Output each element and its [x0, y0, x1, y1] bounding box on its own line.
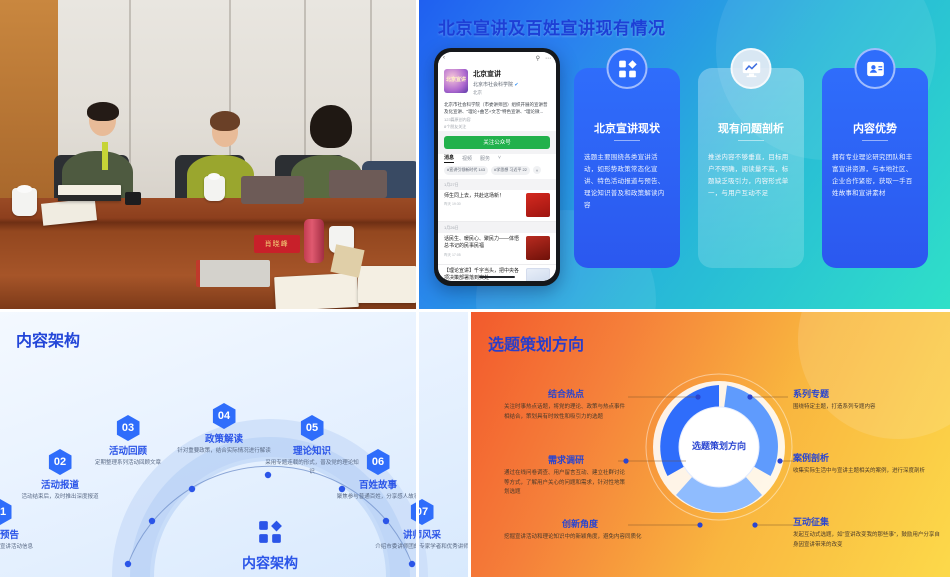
item-desc: 发起互动式选题，如"宣讲改变我的那些事"，鼓励用户分享自身因宣讲带来的改变 [793, 531, 941, 550]
list-item[interactable]: 【理论宣讲】千字当头，把中央各项决策部署落到实处 1月25日 [438, 265, 556, 281]
name-plate: 肖晓峰 [254, 235, 300, 254]
account-meta-friends: 8个朋友关注 [438, 123, 556, 130]
post-title: 【理论宣讲】千字当头，把中央各项决策部署落到实处 [444, 268, 522, 281]
smartphone [125, 192, 142, 206]
account-org: 北京市社会科学院 [473, 82, 513, 88]
arc-slide-title: 内容架构 [16, 327, 80, 351]
post-title: 话民生、暖民心、聚民力——体悟总书记的民事民福 [444, 236, 522, 251]
grid-blocks-icon [257, 519, 283, 545]
notebook [196, 260, 271, 288]
post-date-1: 1月27日 [438, 179, 556, 190]
chip-more-icon[interactable]: ˅ [533, 166, 541, 174]
person-right-hair [310, 105, 352, 148]
card-divider [738, 140, 764, 141]
topic-chips: #宣讲引领新时代 143 #学思想 习近平 22 ˅ [438, 166, 556, 179]
account-meta-original: 123篇原创内容 [438, 116, 556, 123]
card-current-status[interactable]: 北京宣讲现状 选题主要围绕各类宣讲活动，如形势政策常态化宣讲、特色活动报道与预告… [574, 68, 680, 268]
tea-cup [204, 176, 225, 201]
topic-planning-slide: 选题策划方向 选题策划方向 [468, 309, 950, 577]
lanyard [102, 142, 108, 170]
node-desc: 针对重要政策，结合实际情况进行解读 [176, 447, 272, 456]
card-body: 推送内容不够垂直，目标用户不明确，阅读量不高，标题缺乏吸引力，内容形式单一，与用… [708, 152, 794, 200]
node-number: 07 [411, 499, 434, 525]
topic-item-case[interactable]: 案例剖析 收集实际生活中与宣讲主题相关的案例，进行深度剖析 [793, 451, 941, 477]
node-label: 讲师风采 [374, 527, 468, 541]
cup-lid [208, 173, 220, 180]
node-label: 百姓故事 [330, 477, 426, 491]
laptop [329, 170, 387, 198]
node-number: 05 [301, 415, 324, 441]
grid-divider-horizontal [0, 309, 950, 312]
laptop [241, 176, 303, 204]
meeting-photo-slide: 肖晓峰 [0, 0, 416, 309]
arc-dot [149, 518, 155, 524]
search-icon[interactable]: ⚲ [536, 55, 540, 62]
arc-node-07[interactable]: 07 讲师风采 介绍市委讲师团的专家学者和优秀讲师 [374, 499, 468, 552]
card-content-advantage[interactable]: 内容优势 拥有专业理论研究团队和丰富宣讲资源，与本地社区、企业合作紧密，获取一手… [822, 68, 928, 268]
follow-button[interactable]: 关注公众号 [444, 136, 550, 149]
list-item[interactable]: 师生同上去，共赴这场新！ 昨天 19:30 [438, 190, 556, 222]
post-thumbnail [526, 236, 550, 260]
phone-screen: ‹ ⚲ ⋯ 北京宣讲 北京宣讲 北京市社会科学院 ✔ 北京 [438, 52, 556, 281]
grid-divider-vertical-bottom [468, 309, 471, 577]
person-left-hair [87, 102, 118, 121]
card-problem-analysis[interactable]: 现有问题剖析 推送内容不够垂直，目标用户不明确，阅读量不高，标题缺乏吸引力，内容… [698, 68, 804, 268]
topic-item-interactive[interactable]: 互动征集 发起互动式选题，如"宣讲改变我的那些事"，鼓励用户分享自身因宣讲带来的… [793, 515, 941, 550]
arc-dot [189, 486, 195, 492]
topic-item-series[interactable]: 系列专题 围绕特定主题，打造系列专题内容 [793, 387, 933, 413]
item-desc: 收集实际生活中与宣讲主题相关的案例，进行深度剖析 [793, 467, 941, 477]
node-number: 01 [0, 499, 12, 525]
verified-badge-icon: ✔ [514, 82, 518, 88]
phone-status-bar: ‹ ⚲ ⋯ [438, 52, 556, 64]
item-title: 创新角度 [504, 517, 656, 530]
item-title: 互动征集 [793, 515, 941, 528]
more-dots-icon[interactable]: ⋯ [545, 55, 551, 62]
card-title: 北京宣讲现状 [574, 120, 680, 136]
card-title: 内容优势 [822, 120, 928, 136]
item-title: 案例剖析 [793, 451, 941, 464]
content-structure-slide: 内容架构 内容 [0, 309, 468, 577]
wood-panel [0, 0, 58, 198]
post-time: 昨天 17:05 [444, 253, 522, 258]
item-desc: 围绕特定主题，打造系列专题内容 [793, 403, 933, 413]
arc-node-03[interactable]: 03 活动回顾 定期整理系列活动回顾文章 [80, 415, 176, 468]
item-title: 需求调研 [504, 453, 628, 466]
grid-blocks-icon [607, 48, 648, 89]
arc-node-04[interactable]: 04 政策解读 针对重要政策，结合实际情况进行解读 [176, 403, 272, 456]
node-desc: 提前发布各类宣讲活动信息 [0, 543, 48, 552]
card-title: 现有问题剖析 [698, 120, 804, 136]
node-label: 活动回顾 [80, 443, 176, 457]
item-desc: 挖掘宣讲活动和理论知识中的新颖角度，避免内容同质化 [504, 533, 656, 543]
card-divider [862, 140, 888, 141]
person-middle-hair [210, 111, 241, 131]
account-subtitle: 北京市社会科学院 ✔ [473, 81, 550, 88]
item-title: 结合热点 [504, 387, 628, 400]
tab-videos[interactable]: 视频 [462, 155, 472, 162]
slide-grid: 肖晓峰 北京宣讲及百姓宣讲现有情况 ‹ ⚲ ⋯ 北京宣讲 [0, 0, 950, 577]
account-name: 北京宣讲 [473, 69, 550, 79]
topic-item-hotspot[interactable]: 结合热点 关注时事热点话题，将党的理论、政策与热点事件相结合，策划具有时效性和吸… [504, 387, 628, 422]
situation-cards: 北京宣讲现状 选题主要围绕各类宣讲活动，如形势政策常态化宣讲、特色活动报道与预告… [574, 52, 940, 284]
list-item[interactable]: 话民生、暖民心、聚民力——体悟总书记的民事民福 昨天 17:05 [438, 233, 556, 265]
post-thumbnail [526, 193, 550, 217]
account-intro: 北京市社会科学院（市委讲师团）组织开展的宣讲普及化宣讲、"理论+曲艺+文艺"特色… [438, 100, 556, 116]
tab-services[interactable]: 服务 [480, 155, 490, 162]
node-desc: 活动结束后，及时推出深度报道 [12, 493, 108, 502]
arc-center-label: 内容架构 [90, 553, 450, 573]
back-chevron-icon[interactable]: ‹ [443, 55, 445, 61]
open-notebook [274, 273, 359, 309]
node-label: 活动预告 [0, 527, 48, 541]
tab-messages[interactable]: 消息 [444, 154, 454, 163]
post-date-2: 1月26日 [438, 222, 556, 233]
water-bottle [304, 219, 325, 262]
chevron-down-icon[interactable]: ˅ [498, 155, 501, 161]
item-desc: 通过在线问卷调查、用户留言互动、建立社群讨论等方式，了解用户关心的问题和需求，针… [504, 469, 628, 498]
account-header: 北京宣讲 北京宣讲 北京市社会科学院 ✔ 北京 [438, 64, 556, 100]
post-time: 昨天 19:30 [444, 202, 522, 207]
paper-stack [358, 266, 416, 303]
topic-item-innovation[interactable]: 创新角度 挖掘宣讲活动和理论知识中的新颖角度，避免内容同质化 [504, 517, 656, 543]
chip-topic-2[interactable]: #学思想 习近平 22 [491, 166, 530, 175]
monitor-chart-icon [731, 48, 772, 89]
folder [330, 244, 364, 277]
card-body: 选题主要围绕各类宣讲活动，如形势政策常态化宣讲、特色活动报道与预告、理论知识普及… [584, 152, 670, 212]
node-label: 政策解读 [176, 431, 272, 445]
account-avatar: 北京宣讲 [444, 69, 468, 93]
item-title: 系列专题 [793, 387, 933, 400]
card-body: 拥有专业理论研究团队和丰富宣讲资源，与本地社区、企业合作紧密，获取一手百姓故事和… [832, 152, 918, 200]
node-desc: 定期整理系列活动回顾文章 [80, 459, 176, 468]
current-situation-slide: 北京宣讲及百姓宣讲现有情况 ‹ ⚲ ⋯ 北京宣讲 北京宣讲 北京市社会科学院 [416, 0, 950, 309]
topic-item-research[interactable]: 需求调研 通过在线问卷调查、用户留言互动、建立社群讨论等方式，了解用户关心的问题… [504, 453, 628, 498]
card-divider [614, 140, 640, 141]
arc-node-01[interactable]: 01 活动预告 提前发布各类宣讲活动信息 [0, 499, 48, 552]
book-spine [58, 195, 120, 201]
blue-slide-title: 北京宣讲及百姓宣讲现有情况 [438, 14, 666, 39]
node-label: 活动报道 [12, 477, 108, 491]
node-number: 02 [49, 449, 72, 475]
grid-divider-vertical [416, 0, 419, 577]
node-number: 04 [213, 403, 236, 429]
arc-node-06[interactable]: 06 百姓故事 聚焦参与普通百姓，分享感人故事 [330, 449, 426, 502]
id-card-person-icon [855, 48, 896, 89]
phone-mockup: ‹ ⚲ ⋯ 北京宣讲 北京宣讲 北京市社会科学院 ✔ 北京 [434, 48, 560, 286]
post-thumbnail [526, 268, 550, 281]
home-indicator [479, 276, 515, 278]
account-location: 北京 [473, 90, 550, 96]
node-desc: 介绍市委讲师团的专家学者和优秀讲师 [374, 543, 468, 552]
phone-tabs: 消息 视频 服务 ˅ [438, 154, 556, 166]
node-number: 06 [367, 449, 390, 475]
post-title: 师生同上去，共赴这场新！ [444, 193, 522, 201]
item-desc: 关注时事热点话题，将党的理论、政策与热点事件相结合，策划具有时效性和吸引力的选题 [504, 403, 628, 422]
chip-topic-1[interactable]: #宣讲引领新时代 143 [444, 166, 488, 175]
node-number: 03 [117, 415, 140, 441]
